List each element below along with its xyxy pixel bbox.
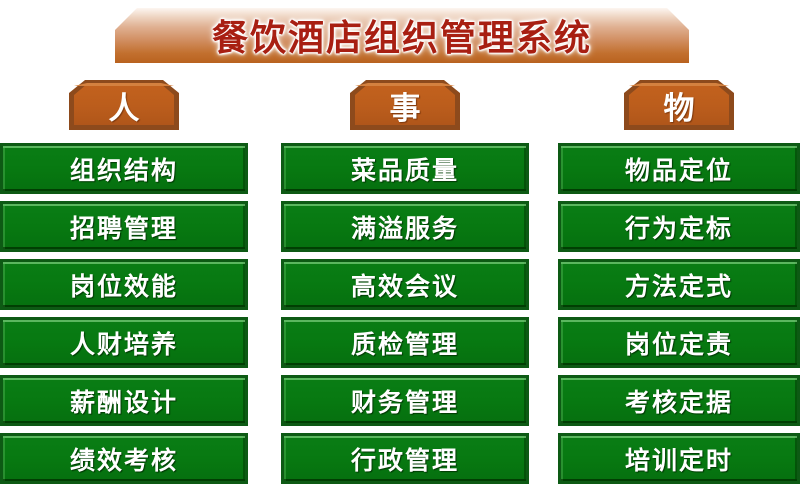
list-item[interactable]: 行为定标 [558,201,800,252]
list-item-label: 薪酬设计 [70,383,178,419]
list-item-face: 财务管理 [284,378,526,423]
list-item[interactable]: 质检管理 [281,317,529,368]
list-item-label: 招聘管理 [70,209,178,245]
list-item-label: 财务管理 [351,383,459,419]
list-item[interactable]: 组织结构 [0,143,248,194]
page-title: 餐饮酒店组织管理系统 [115,8,689,63]
list-item[interactable]: 岗位效能 [0,259,248,310]
category-header-label: 事 [350,80,460,130]
list-item-face: 招聘管理 [3,204,245,249]
category-header-wu[interactable]: 物 [624,80,734,130]
list-item-face: 菜品质量 [284,146,526,191]
list-item-label: 物品定位 [625,151,733,187]
list-item-label: 高效会议 [351,267,459,303]
list-item-face: 行为定标 [561,204,797,249]
title-banner: 餐饮酒店组织管理系统 [115,8,689,63]
list-item[interactable]: 人财培养 [0,317,248,368]
list-item-label: 行政管理 [351,441,459,477]
list-item[interactable]: 岗位定责 [558,317,800,368]
list-item[interactable]: 菜品质量 [281,143,529,194]
category-header-shi[interactable]: 事 [350,80,460,130]
list-item-label: 培训定时 [625,441,733,477]
list-item-label: 人财培养 [70,325,178,361]
list-item[interactable]: 绩效考核 [0,433,248,484]
list-item-face: 岗位定责 [561,320,797,365]
list-item[interactable]: 物品定位 [558,143,800,194]
list-item-face: 岗位效能 [3,262,245,307]
list-item[interactable]: 招聘管理 [0,201,248,252]
list-item-label: 方法定式 [625,267,733,303]
list-item-face: 绩效考核 [3,436,245,481]
category-header-label: 物 [624,80,734,130]
list-item-face: 满溢服务 [284,204,526,249]
list-item-face: 行政管理 [284,436,526,481]
category-header-ren[interactable]: 人 [69,80,179,130]
list-item-face: 高效会议 [284,262,526,307]
list-item-label: 考核定据 [625,383,733,419]
list-item[interactable]: 高效会议 [281,259,529,310]
list-item[interactable]: 培训定时 [558,433,800,484]
list-item-face: 考核定据 [561,378,797,423]
list-item-label: 岗位效能 [70,267,178,303]
category-header-label: 人 [69,80,179,130]
column-shi: 事 菜品质量 满溢服务 高效会议 质检管理 财务管理 行政管理 [281,80,529,491]
list-item-label: 满溢服务 [351,209,459,245]
list-item[interactable]: 财务管理 [281,375,529,426]
list-item[interactable]: 考核定据 [558,375,800,426]
list-item-face: 薪酬设计 [3,378,245,423]
list-item[interactable]: 行政管理 [281,433,529,484]
column-ren: 人 组织结构 招聘管理 岗位效能 人财培养 薪酬设计 绩效考核 [0,80,248,491]
column-wu: 物 物品定位 行为定标 方法定式 岗位定责 考核定据 培训定时 [558,80,800,491]
list-item[interactable]: 满溢服务 [281,201,529,252]
list-item-face: 方法定式 [561,262,797,307]
list-item[interactable]: 方法定式 [558,259,800,310]
list-item-label: 菜品质量 [351,151,459,187]
list-item[interactable]: 薪酬设计 [0,375,248,426]
list-item-label: 行为定标 [625,209,733,245]
list-item-face: 培训定时 [561,436,797,481]
list-item-label: 岗位定责 [625,325,733,361]
list-item-label: 组织结构 [70,151,178,187]
list-item-face: 物品定位 [561,146,797,191]
list-item-label: 质检管理 [351,325,459,361]
list-item-face: 组织结构 [3,146,245,191]
list-item-label: 绩效考核 [70,441,178,477]
list-item-face: 人财培养 [3,320,245,365]
list-item-face: 质检管理 [284,320,526,365]
